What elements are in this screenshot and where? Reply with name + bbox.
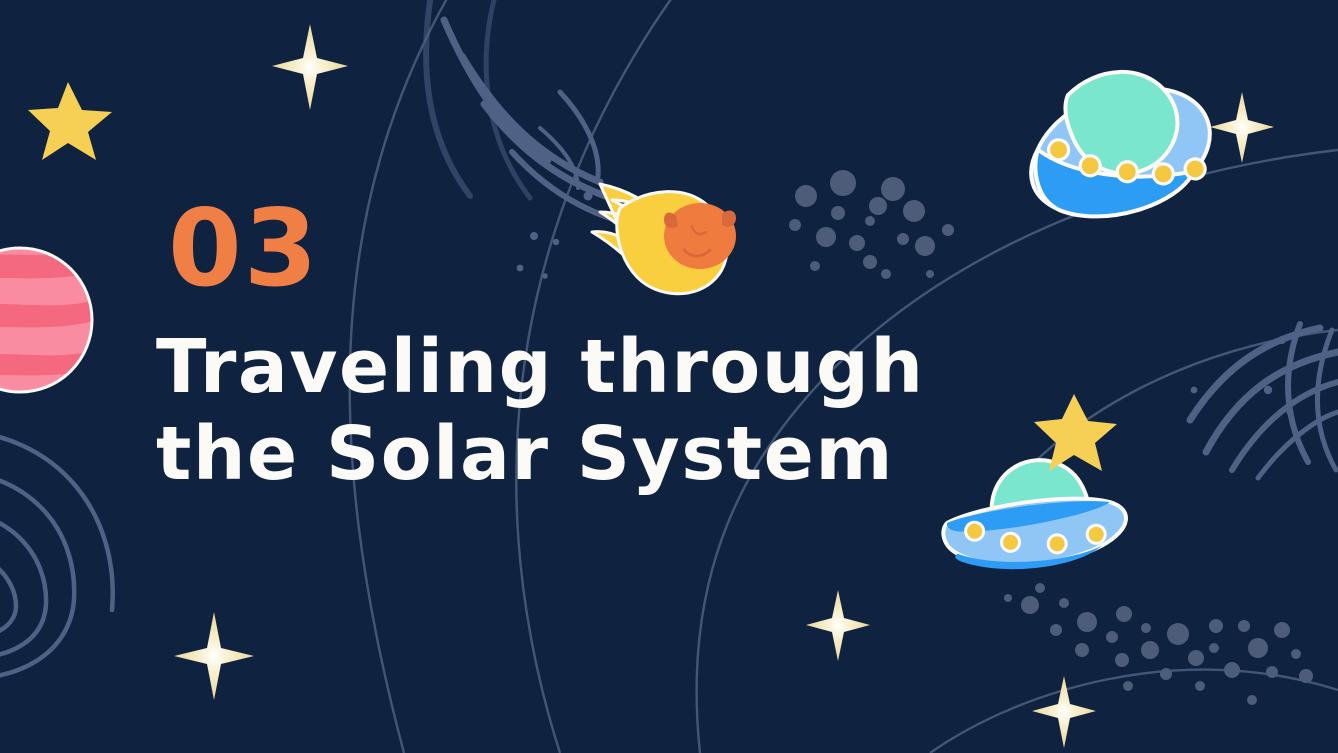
slide-text-block: 03 Traveling through the Solar System: [156, 196, 976, 497]
sparkle-bottom-right: [1032, 676, 1096, 748]
dot-cluster-bottom: [1004, 583, 1313, 705]
sparkle-top-right: [1210, 92, 1274, 163]
star-yellow-top-left: [28, 82, 112, 160]
section-number: 03: [168, 196, 976, 302]
planet-pink: [0, 248, 96, 392]
page-title: Traveling through the Solar System: [156, 324, 976, 497]
star-yellow-right: [1034, 394, 1117, 471]
swirl-bottom-left: [0, 430, 113, 679]
sparkle-bottom-left: [174, 612, 254, 700]
ufo-small-lights: [964, 504, 1107, 565]
ufo-large: [1009, 50, 1226, 236]
swirl-right: [1190, 324, 1338, 478]
ufo-large-lights: [1046, 103, 1207, 216]
presentation-slide: 03 Traveling through the Solar System: [0, 0, 1338, 753]
sparkle-bottom-center: [806, 590, 870, 661]
sparkle-top: [272, 24, 348, 110]
